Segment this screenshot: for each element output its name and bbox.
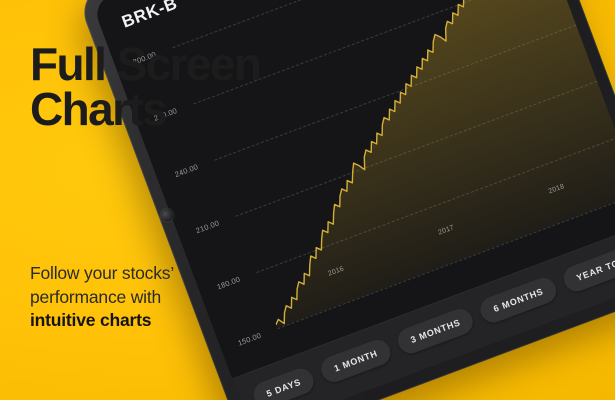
timeframe-button-year-to-date[interactable]: YEAR TO DATE xyxy=(560,235,615,295)
timeframe-button-6-months[interactable]: 6 MONTHS xyxy=(477,274,560,326)
y-axis-tick-label: 210.00 xyxy=(195,218,221,235)
marketing-copy: Full Screen Charts xyxy=(30,42,330,132)
subtitle-line-2: performance with xyxy=(30,286,245,310)
promo-screenshot: Full Screen Charts Follow your stocks’ p… xyxy=(0,0,615,400)
timeframe-button-1-month[interactable]: 1 MONTH xyxy=(318,336,394,385)
y-axis-tick-label: 240.00 xyxy=(174,162,200,179)
y-axis-tick-label: 150.00 xyxy=(237,331,263,348)
timeframe-button-5-days[interactable]: 5 DAYS xyxy=(250,365,317,400)
subtitle-emphasis: intuitive charts xyxy=(30,309,245,333)
page-title: Full Screen Charts xyxy=(30,42,330,132)
timeframe-button-3-months[interactable]: 3 MONTHS xyxy=(394,305,477,357)
subtitle-line-1: Follow your stocks’ xyxy=(30,262,245,286)
marketing-subtitle: Follow your stocks’ performance with int… xyxy=(30,262,245,333)
headline-line-2: Charts xyxy=(30,87,330,132)
